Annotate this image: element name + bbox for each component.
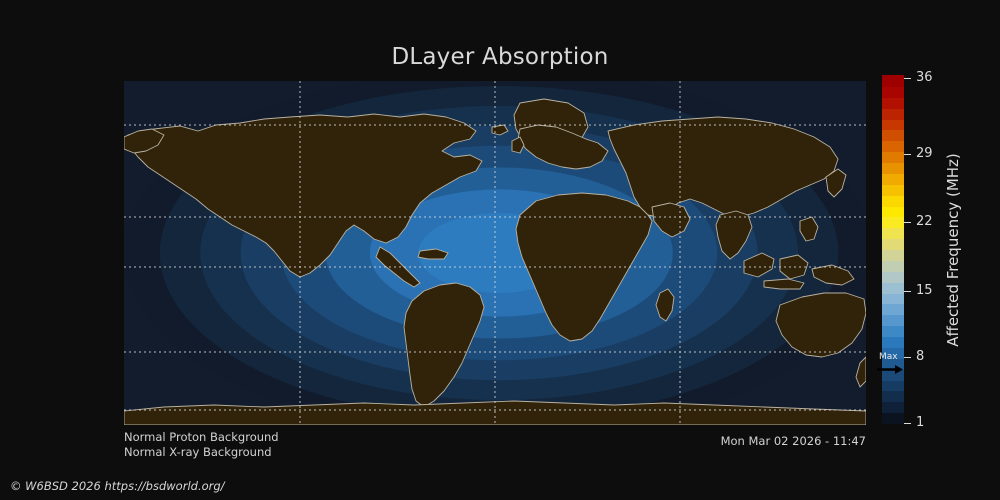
proton-background-note: Normal Proton Background bbox=[124, 430, 279, 445]
colorbar-band bbox=[882, 108, 904, 120]
colorbar-band bbox=[882, 391, 904, 403]
colorbar-band bbox=[882, 380, 904, 392]
map-panel[interactable] bbox=[124, 81, 866, 425]
tick-label: 36 bbox=[916, 70, 933, 86]
tick-label: 15 bbox=[916, 283, 933, 299]
colorbar-band bbox=[882, 336, 904, 348]
colorbar-band bbox=[882, 249, 904, 261]
colorbar-band bbox=[882, 173, 904, 185]
tick-label: 1 bbox=[916, 415, 924, 431]
colorbar-band bbox=[882, 75, 904, 87]
tick-dash bbox=[904, 78, 911, 79]
max-marker-label: Max bbox=[879, 352, 898, 362]
colorbar-band bbox=[882, 86, 904, 98]
colorbar-band bbox=[882, 140, 904, 152]
tick-label: 8 bbox=[916, 349, 924, 365]
colorbar-band bbox=[882, 238, 904, 250]
dlayer-absorption-page: DLayer Absorption bbox=[0, 0, 1000, 500]
colorbar-band bbox=[882, 195, 904, 207]
tick-label: 29 bbox=[916, 146, 933, 162]
tick-dash bbox=[904, 291, 911, 292]
page-title: DLayer Absorption bbox=[0, 44, 1000, 70]
colorbar-band bbox=[882, 293, 904, 305]
colorbar-band bbox=[882, 260, 904, 272]
colorbar-band bbox=[882, 325, 904, 337]
background-notes: Normal Proton Background Normal X-ray Ba… bbox=[124, 430, 279, 460]
colorbar-axis-label: Affected Frequency (MHz) bbox=[944, 76, 966, 424]
colorbar-band bbox=[882, 184, 904, 196]
timestamp: Mon Mar 02 2026 - 11:47 bbox=[566, 434, 866, 448]
footer-credit: © W6BSD 2026 https://bsdworld.org/ bbox=[10, 479, 225, 493]
colorbar-band bbox=[882, 282, 904, 294]
colorbar-band bbox=[882, 130, 904, 142]
colorbar-band bbox=[882, 412, 904, 424]
colorbar-band bbox=[882, 151, 904, 163]
colorbar-band bbox=[882, 401, 904, 413]
xray-background-note: Normal X-ray Background bbox=[124, 445, 279, 460]
colorbar-band bbox=[882, 314, 904, 326]
colorbar-band bbox=[882, 206, 904, 218]
tick-dash bbox=[904, 222, 911, 223]
world-map[interactable] bbox=[124, 81, 866, 425]
colorbar-band bbox=[882, 97, 904, 109]
tick-dash bbox=[904, 154, 911, 155]
colorbar-band bbox=[882, 217, 904, 229]
colorbar-band bbox=[882, 304, 904, 316]
tick-dash bbox=[904, 423, 911, 424]
colorbar-band bbox=[882, 119, 904, 131]
colorbar-band bbox=[882, 271, 904, 283]
max-marker: Max bbox=[875, 352, 915, 378]
max-arrow-icon bbox=[877, 365, 903, 374]
colorbar-band bbox=[882, 227, 904, 239]
colorbar-band bbox=[882, 162, 904, 174]
tick-label: 22 bbox=[916, 214, 933, 230]
